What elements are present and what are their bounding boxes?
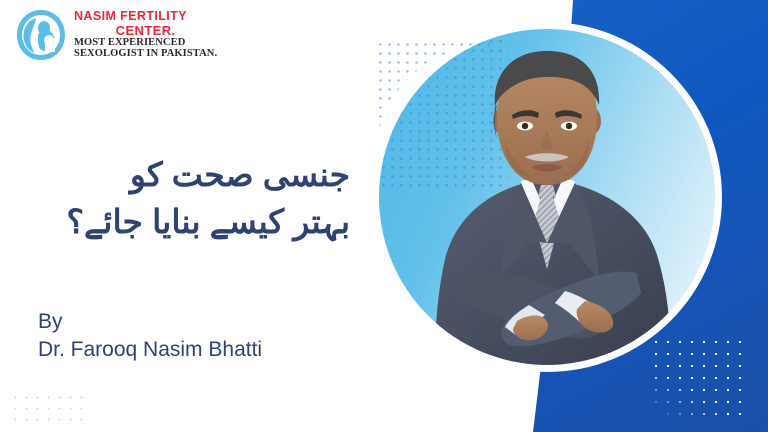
clinic-logo[interactable]: NASIM FERTILITY CENTER. MOST EXPERIENCED… <box>14 8 217 62</box>
headline-line-2: بہتر کیسے بنایا جائے؟ <box>20 199 350 246</box>
logo-line-1: NASIM FERTILITY <box>74 10 217 23</box>
byline-author-name: Dr. Farooq Nasim Bhatti <box>38 336 262 364</box>
headline-line-1: جنسی صحت کو <box>20 152 350 199</box>
presentation-slide: NASIM FERTILITY CENTER. MOST EXPERIENCED… <box>0 0 768 432</box>
logo-line-4: SEXOLOGIST IN PAKISTAN. <box>74 49 217 60</box>
logo-text-block: NASIM FERTILITY CENTER. MOST EXPERIENCED… <box>74 10 217 60</box>
slide-headline: جنسی صحت کو بہتر کیسے بنایا جائے؟ <box>20 152 350 246</box>
logo-line-3: MOST EXPERIENCED <box>74 38 217 49</box>
outer-dot-pattern-icon <box>376 40 494 160</box>
slide-byline: By Dr. Farooq Nasim Bhatti <box>38 308 262 365</box>
byline-prefix: By <box>38 308 262 336</box>
mother-and-child-logo-icon <box>14 8 68 62</box>
corner-dot-pattern-icon <box>10 392 90 424</box>
logo-line-2: CENTER. <box>74 24 217 37</box>
